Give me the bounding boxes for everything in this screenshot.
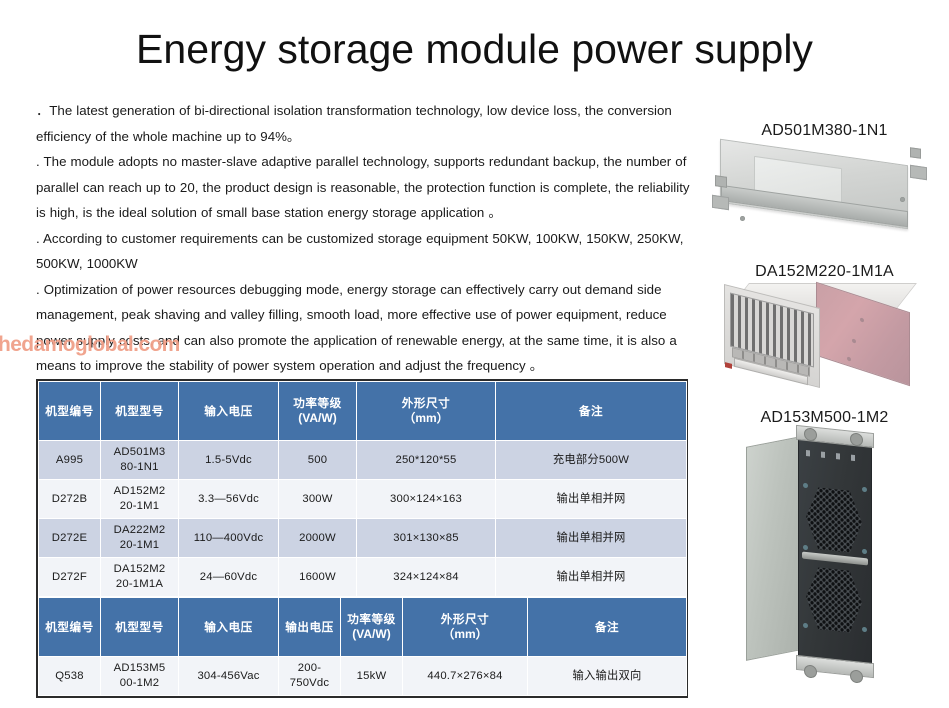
cell-dimensions: 440.7×276×84	[403, 657, 528, 696]
column-header: 功率等级 (VA/W)	[279, 382, 357, 441]
cell-power: 15kW	[341, 657, 403, 696]
product-label: DA152M220-1M1A	[700, 263, 949, 281]
product-label: AD501M380-1N1	[700, 122, 949, 140]
cell-power: 1600W	[279, 558, 357, 597]
column-header: 输入电压	[179, 598, 279, 657]
cell-code: D272B	[39, 480, 101, 519]
cell-dimensions: 250*120*55	[357, 441, 496, 480]
cell-code: A995	[39, 441, 101, 480]
table-header-row-a: 机型编号 机型型号 输入电压 功率等级 (VA/W) 外形尺寸 （mm）	[39, 382, 687, 441]
column-header: 机型编号	[39, 598, 101, 657]
slide-page: Energy storage module power supply ．The …	[0, 0, 949, 708]
cell-note: 输出单相并网	[496, 558, 687, 597]
description-paragraph: ．The latest generation of bi-directional…	[36, 98, 698, 149]
cell-note: 输出单相并网	[496, 519, 687, 558]
column-header: 外形尺寸 （mm）	[357, 382, 496, 441]
description-paragraph: . Optimization of power resources debugg…	[36, 277, 698, 379]
product-item-2: DA152M220-1M1A	[700, 263, 949, 381]
cell-note: 输出单相并网	[496, 480, 687, 519]
product-item-3: AD153M500-1M2	[700, 409, 949, 677]
cell-input-voltage: 3.3—56Vdc	[179, 480, 279, 519]
column-header: 外形尺寸 （mm）	[403, 598, 528, 657]
cell-model: AD501M3 80-1N1	[101, 441, 179, 480]
table-row: Q538 AD153M5 00-1M2 304-456Vac 200- 750V…	[39, 657, 687, 696]
column-header: 功率等级 (VA/W)	[341, 598, 403, 657]
cell-dimensions: 324×124×84	[357, 558, 496, 597]
cell-note: 输入输出双向	[528, 657, 687, 696]
column-header: 机型型号	[101, 382, 179, 441]
column-header: 机型型号	[101, 598, 179, 657]
cell-input-voltage: 1.5-5Vdc	[179, 441, 279, 480]
cell-dimensions: 301×130×85	[357, 519, 496, 558]
cell-dimensions: 300×124×163	[357, 480, 496, 519]
description-paragraph: . According to customer requirements can…	[36, 226, 698, 277]
cell-input-voltage: 24—60Vdc	[179, 558, 279, 597]
vented-rectifier-module-photo	[712, 281, 930, 381]
cell-power: 2000W	[279, 519, 357, 558]
cell-model: DA152M2 20-1M1A	[101, 558, 179, 597]
specification-table: 机型编号 机型型号 输入电压 功率等级 (VA/W) 外形尺寸 （mm）	[36, 379, 688, 698]
table-row: D272B AD152M2 20-1M1 3.3—56Vdc 300W 300×…	[39, 480, 687, 519]
column-header: 输出电压	[279, 598, 341, 657]
cell-model: DA222M2 20-1M1	[101, 519, 179, 558]
cell-output-voltage: 200- 750Vdc	[279, 657, 341, 696]
cell-note: 充电部分500W	[496, 441, 687, 480]
product-label: AD153M500-1M2	[700, 409, 949, 427]
column-header: 备注	[528, 598, 687, 657]
product-gallery: AD501M380-1N1 DA152M220-1M1A	[700, 0, 949, 708]
description-block: ．The latest generation of bi-directional…	[36, 98, 698, 379]
table-header-row-b: 机型编号 机型型号 输入电压 输出电压 功率等级 (VA/W)	[39, 598, 687, 657]
cell-model: AD152M2 20-1M1	[101, 480, 179, 519]
cell-code: Q538	[39, 657, 101, 696]
cell-code: D272F	[39, 558, 101, 597]
cell-input-voltage: 304-456Vac	[179, 657, 279, 696]
column-header: 备注	[496, 382, 687, 441]
column-header: 输入电压	[179, 382, 279, 441]
table-row: D272E DA222M2 20-1M1 110—400Vdc 2000W 30…	[39, 519, 687, 558]
cell-power: 300W	[279, 480, 357, 519]
description-paragraph: . The module adopts no master-slave adap…	[36, 149, 698, 226]
cell-input-voltage: 110—400Vdc	[179, 519, 279, 558]
flat-silver-chassis-photo	[712, 140, 927, 238]
cell-power: 500	[279, 441, 357, 480]
table-row: A995 AD501M3 80-1N1 1.5-5Vdc 500 250*120…	[39, 441, 687, 480]
product-item-1: AD501M380-1N1	[700, 122, 949, 238]
column-header: 机型编号	[39, 382, 101, 441]
tall-dark-module-photo	[746, 427, 906, 677]
cell-code: D272E	[39, 519, 101, 558]
cell-model: AD153M5 00-1M2	[101, 657, 179, 696]
table-row: D272F DA152M2 20-1M1A 24—60Vdc 1600W 324…	[39, 558, 687, 597]
